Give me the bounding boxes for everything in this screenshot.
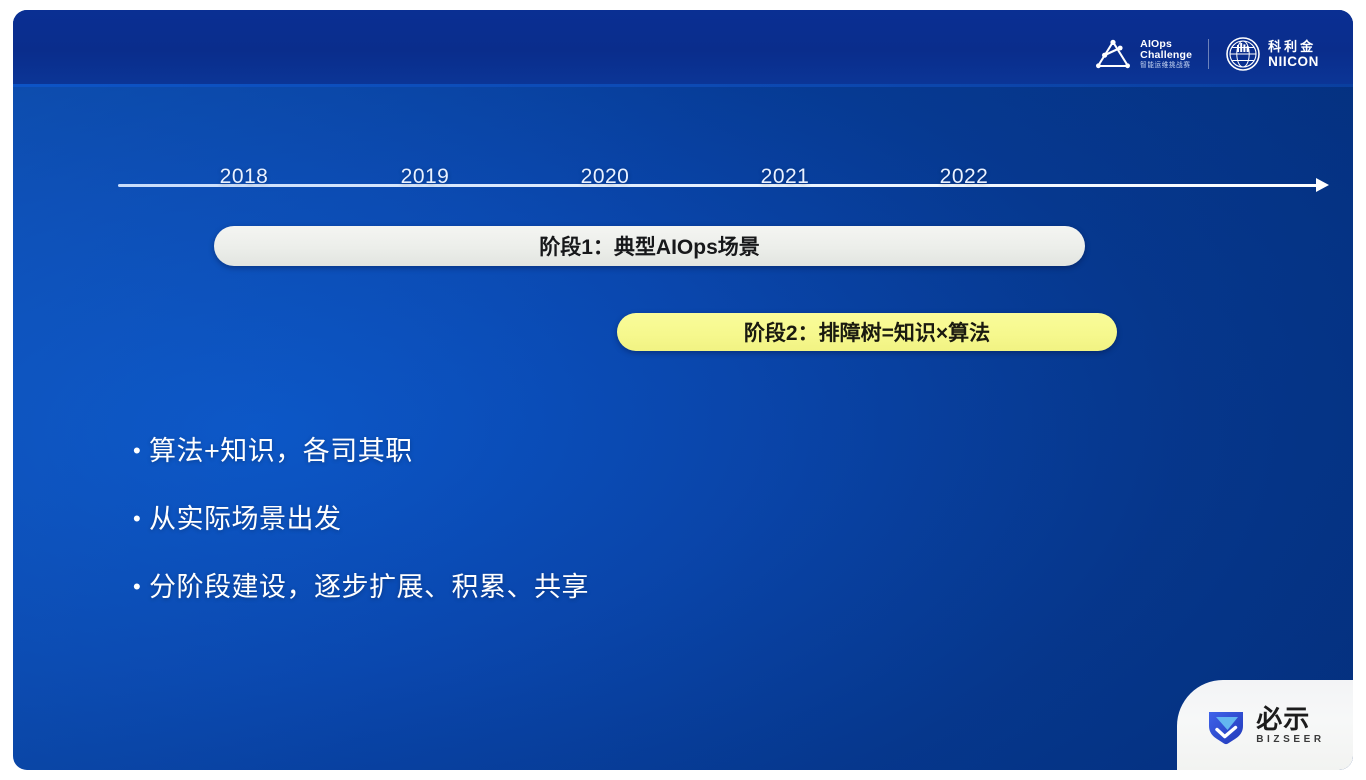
bizseer-logo-text: 必示 BIZSEER	[1256, 706, 1325, 745]
timeline-year-2019: 2019	[401, 165, 450, 189]
bullet-text: 从实际场景出发	[149, 502, 342, 536]
aiops-logo-text: AIOps Challenge 智能运维挑战赛	[1140, 39, 1192, 70]
timeline-axis-line	[118, 184, 1318, 187]
header-underline	[13, 84, 1353, 87]
summary-bullet-list: • 算法+知识，各司其职 • 从实际场景出发 • 分阶段建设，逐步扩展、积累、共…	[133, 434, 1033, 638]
bizseer-logo-english: BIZSEER	[1256, 735, 1325, 745]
stage-1-pill: 阶段1：典型AIOps场景	[214, 226, 1085, 266]
bizseer-triangle-check-icon	[1205, 704, 1247, 746]
bizseer-logo-plate: 必示 BIZSEER	[1177, 680, 1353, 770]
logo-divider	[1208, 39, 1209, 69]
bullet-dot-icon: •	[133, 434, 149, 468]
niicon-logo-chinese: 科利金	[1268, 40, 1319, 53]
aiops-triangle-icon	[1093, 38, 1133, 70]
bullet-dot-icon: •	[133, 570, 149, 604]
bullet-dot-icon: •	[133, 502, 149, 536]
timeline-year-2022: 2022	[940, 165, 989, 189]
timeline: 2018 2019 2020 2021 2022	[13, 10, 1353, 770]
bizseer-logo-chinese: 必示	[1256, 706, 1325, 732]
niicon-globe-icon	[1225, 36, 1261, 72]
slide-root: 智能排障总结 AIOps Challenge	[0, 0, 1366, 780]
aiops-logo-subtitle: 智能运维挑战赛	[1140, 62, 1192, 69]
header-logo-group: AIOps Challenge 智能运维挑战赛	[1093, 32, 1319, 76]
timeline-year-2018: 2018	[220, 165, 269, 189]
presentation-slide: 智能排障总结 AIOps Challenge	[13, 10, 1353, 770]
niicon-logo-english: NIICON	[1268, 55, 1319, 69]
niicon-logo: 科利金 NIICON	[1225, 36, 1319, 72]
aiops-challenge-logo: AIOps Challenge 智能运维挑战赛	[1093, 38, 1192, 70]
timeline-arrow-icon	[1316, 178, 1329, 192]
timeline-year-2020: 2020	[581, 165, 630, 189]
aiops-logo-line2: Challenge	[1140, 50, 1192, 61]
bullet-text: 算法+知识，各司其职	[149, 434, 413, 468]
list-item: • 算法+知识，各司其职	[133, 434, 1033, 468]
niicon-logo-text: 科利金 NIICON	[1268, 40, 1319, 69]
timeline-year-2021: 2021	[761, 165, 810, 189]
list-item: • 从实际场景出发	[133, 502, 1033, 536]
list-item: • 分阶段建设，逐步扩展、积累、共享	[133, 570, 1033, 604]
bullet-text: 分阶段建设，逐步扩展、积累、共享	[149, 570, 589, 604]
stage-2-pill: 阶段2：排障树=知识×算法	[617, 313, 1117, 351]
